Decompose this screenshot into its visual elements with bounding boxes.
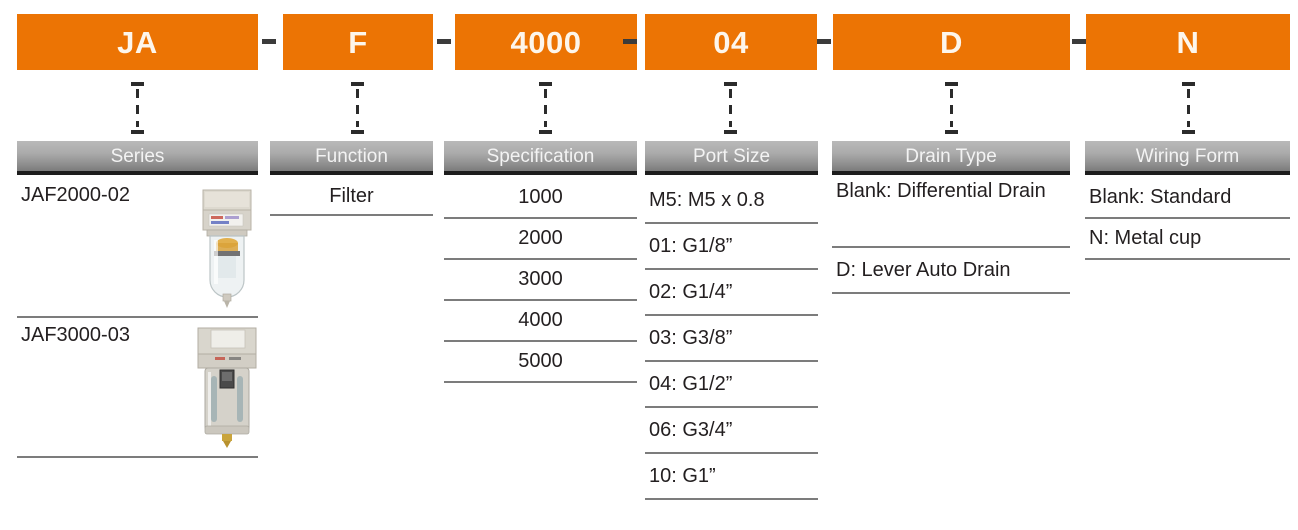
option-label: 06: G3/4”: [649, 419, 732, 442]
option-label: 4000: [518, 309, 563, 332]
connector-stem: [356, 89, 359, 127]
option-label: 03: G3/8”: [649, 327, 732, 350]
list-item: D: Lever Auto Drain: [832, 248, 1070, 294]
connector-cap-top: [724, 82, 737, 86]
column-header-function: Function: [270, 141, 433, 175]
list-item: Blank: Standard: [1085, 178, 1290, 219]
connector-stem: [729, 89, 732, 127]
column-header-series: Series: [17, 141, 258, 175]
list-item: JAF3000-03: [17, 318, 258, 458]
option-list-specification: 1000 2000 3000 4000 5000: [444, 178, 637, 383]
list-item: Blank: Differential Drain: [832, 178, 1070, 248]
option-list-series: JAF2000-02: [17, 178, 258, 458]
series-item-label: JAF3000-03: [21, 324, 130, 347]
option-label: 04: G1/2”: [649, 373, 732, 396]
connector-cap-top: [1182, 82, 1195, 86]
option-label: 10: G1”: [649, 465, 716, 488]
code-box-port-size: 04: [645, 14, 817, 70]
option-list-drain-type: Blank: Differential Drain D: Lever Auto …: [832, 178, 1070, 294]
code-box-function: F: [283, 14, 433, 70]
connector-cap-bottom: [351, 130, 364, 134]
list-item: Filter: [270, 178, 433, 216]
column-header-wiring-form: Wiring Form: [1085, 141, 1290, 175]
connector-cap-bottom: [945, 130, 958, 134]
connector-specification: [539, 82, 552, 134]
code-separator-1: [262, 39, 276, 44]
connector-cap-bottom: [539, 130, 552, 134]
list-item: 4000: [444, 301, 637, 342]
connector-cap-bottom: [131, 130, 144, 134]
list-item: 01: G1/8”: [645, 224, 818, 270]
list-item: 1000: [444, 178, 637, 219]
connector-series: [131, 82, 144, 134]
option-label: Blank: Differential Drain: [836, 180, 1046, 202]
series-item-label: JAF2000-02: [21, 184, 130, 207]
list-item: 06: G3/4”: [645, 408, 818, 454]
column-header-port-size: Port Size: [645, 141, 818, 175]
list-item: 03: G3/8”: [645, 316, 818, 362]
list-item: 5000: [444, 342, 637, 383]
list-item: M5: M5 x 0.8: [645, 178, 818, 224]
connector-stem: [136, 89, 139, 127]
connector-cap-top: [945, 82, 958, 86]
code-separator-2: [437, 39, 451, 44]
option-label: M5: M5 x 0.8: [649, 189, 765, 212]
code-separator-3: [623, 39, 637, 44]
air-filter-clear-bowl-icon: [185, 182, 269, 314]
column-header-drain-type: Drain Type: [832, 141, 1070, 175]
code-box-drain-type: D: [833, 14, 1070, 70]
option-list-wiring-form: Blank: Standard N: Metal cup: [1085, 178, 1290, 260]
option-label: D: Lever Auto Drain: [836, 259, 1011, 282]
option-list-port-size: M5: M5 x 0.8 01: G1/8” 02: G1/4” 03: G3/…: [645, 178, 818, 500]
air-filter-metal-bowl-icon: [185, 322, 269, 454]
connector-drain-type: [945, 82, 958, 134]
option-label: Blank: Standard: [1089, 186, 1231, 209]
list-item: 2000: [444, 219, 637, 260]
column-header-specification: Specification: [444, 141, 637, 175]
connector-cap-top: [131, 82, 144, 86]
option-label: 5000: [518, 350, 563, 373]
code-separator-4: [817, 39, 831, 44]
option-list-function: Filter: [270, 178, 433, 216]
connector-cap-top: [539, 82, 552, 86]
connector-wiring-form: [1182, 82, 1195, 134]
code-box-series: JA: [17, 14, 258, 70]
list-item: JAF2000-02: [17, 178, 258, 318]
connector-cap-top: [351, 82, 364, 86]
option-label: 3000: [518, 268, 563, 291]
connector-stem: [1187, 89, 1190, 127]
list-item: 3000: [444, 260, 637, 301]
option-label: Filter: [329, 185, 373, 208]
code-box-specification: 4000: [455, 14, 637, 70]
connector-cap-bottom: [724, 130, 737, 134]
list-item: N: Metal cup: [1085, 219, 1290, 260]
code-box-wiring-form: N: [1086, 14, 1290, 70]
model-code-diagram: JA F 4000 04 D N Series Function: [0, 0, 1298, 530]
code-separator-5: [1072, 39, 1086, 44]
option-label: 2000: [518, 227, 563, 250]
connector-cap-bottom: [1182, 130, 1195, 134]
connector-stem: [950, 89, 953, 127]
connector-function: [351, 82, 364, 134]
connector-stem: [544, 89, 547, 127]
list-item: 04: G1/2”: [645, 362, 818, 408]
connector-port-size: [724, 82, 737, 134]
list-item: 10: G1”: [645, 454, 818, 500]
option-label: N: Metal cup: [1089, 227, 1201, 250]
list-item: 02: G1/4”: [645, 270, 818, 316]
option-label: 01: G1/8”: [649, 235, 732, 258]
option-label: 1000: [518, 186, 563, 209]
option-label: 02: G1/4”: [649, 281, 732, 304]
